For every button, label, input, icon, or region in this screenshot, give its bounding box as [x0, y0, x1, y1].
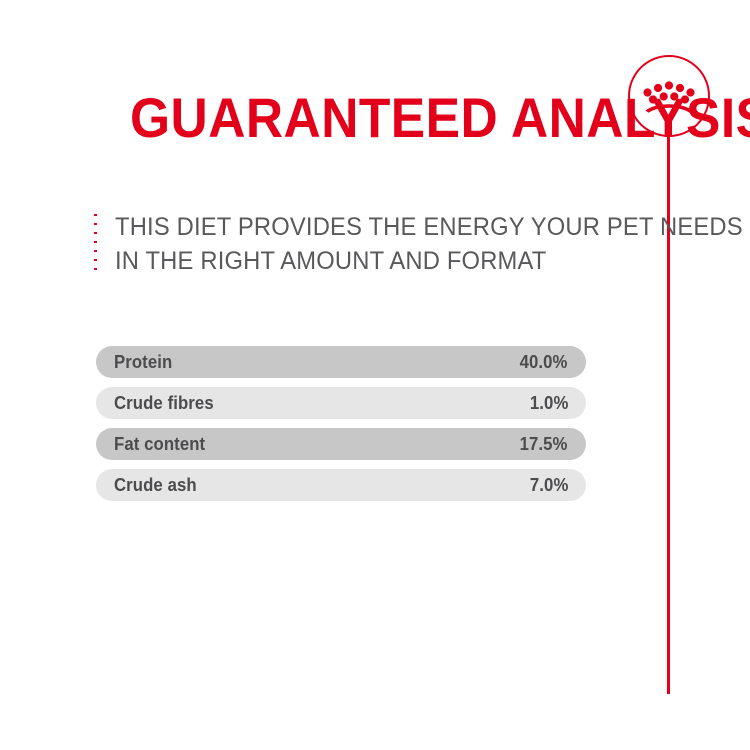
- intro-statement: THIS DIET PROVIDES THE ENERGY YOUR PET N…: [94, 210, 750, 278]
- intro-line-1: THIS DIET PROVIDES THE ENERGY YOUR PET N…: [115, 210, 743, 244]
- table-row: Fat content 17.5%: [96, 428, 586, 460]
- analysis-table: Protein 40.0% Crude fibres 1.0% Fat cont…: [96, 346, 586, 501]
- dotted-line-icon: [94, 214, 98, 276]
- guaranteed-analysis-panel: GUARANTEED ANALYSIS THIS DIET PROVIDES T…: [0, 0, 750, 750]
- intro-line-2: IN THE RIGHT AMOUNT AND FORMAT: [115, 244, 743, 278]
- nutrient-value: 1.0%: [529, 393, 568, 414]
- nutrient-label: Crude ash: [114, 475, 197, 496]
- table-row: Crude ash 7.0%: [96, 469, 586, 501]
- nutrient-value: 40.0%: [520, 352, 568, 373]
- nutrient-value: 7.0%: [529, 475, 568, 496]
- table-row: Protein 40.0%: [96, 346, 586, 378]
- nutrient-value: 17.5%: [520, 434, 568, 455]
- nutrient-label: Protein: [114, 352, 172, 373]
- page-title: GUARANTEED ANALYSIS: [130, 88, 750, 148]
- nutrient-label: Fat content: [114, 434, 205, 455]
- table-row: Crude fibres 1.0%: [96, 387, 586, 419]
- intro-text: THIS DIET PROVIDES THE ENERGY YOUR PET N…: [115, 210, 743, 278]
- nutrient-label: Crude fibres: [114, 393, 214, 414]
